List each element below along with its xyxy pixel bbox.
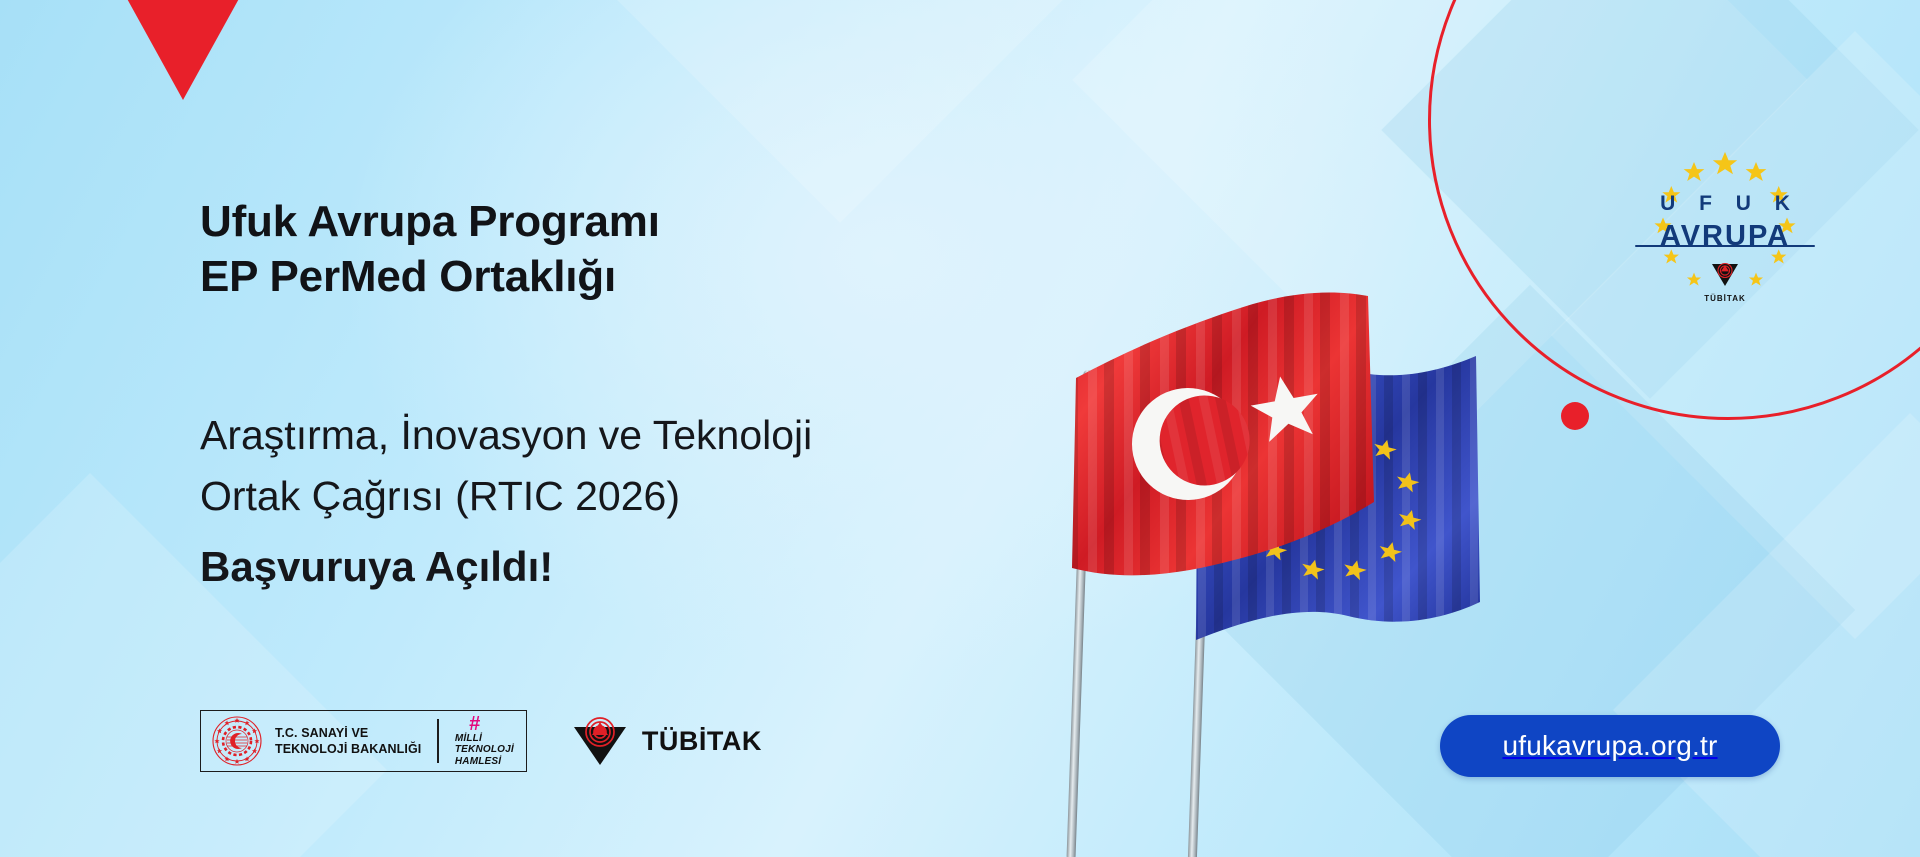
subtitle-line-2: Ortak Çağrısı (RTIC 2026)	[200, 466, 812, 527]
ministry-logo-label-line-2: TEKNOLOJİ BAKANLIĞI	[275, 741, 421, 758]
page-title: Ufuk Avrupa Programı EP PerMed Ortaklığı	[200, 195, 660, 304]
mth-line-1: MİLLİ	[455, 733, 514, 744]
campaign-banner: Ufuk Avrupa Programı EP PerMed Ortaklığı…	[0, 0, 1920, 857]
website-url-button[interactable]: ufukavrupa.org.tr	[1440, 715, 1780, 777]
ministry-logo-label-line-1: T.C. SANAYİ VE	[275, 725, 421, 742]
subtitle-line-1: Araştırma, İnovasyon ve Teknoloji	[200, 405, 812, 466]
headline-line-2: EP PerMed Ortaklığı	[200, 250, 660, 305]
turkey-flag	[1068, 292, 1378, 592]
ufuk-avrupa-logo-line-1: U F U K	[1625, 192, 1825, 216]
ufuk-avrupa-logo: U F U K AVRUPA TÜBİTAK	[1625, 140, 1825, 320]
ufuk-avrupa-logo-rule	[1635, 245, 1815, 247]
flags-illustration	[1020, 290, 1500, 857]
national-technology-move-label: MİLLİ TEKNOLOJİ HAMLESİ	[455, 733, 514, 767]
headline-line-1: Ufuk Avrupa Programı	[200, 195, 660, 250]
background-facet	[557, 0, 1123, 223]
tubitak-mark-icon	[1710, 262, 1740, 288]
ufuk-avrupa-logo-tubitak: TÜBİTAK	[1625, 262, 1825, 303]
subtitle-call-to-action: Başvuruya Açıldı!	[200, 536, 812, 598]
ufuk-avrupa-logo-tubitak-label: TÜBİTAK	[1625, 294, 1825, 303]
subtitle: Araştırma, İnovasyon ve Teknoloji Ortak …	[200, 405, 812, 599]
background-facet	[1613, 413, 1920, 857]
hashtag-icon: #	[469, 715, 480, 733]
ufuk-avrupa-logo-line-2: AVRUPA	[1625, 220, 1825, 253]
mth-line-2: TEKNOLOJİ	[455, 744, 514, 755]
logo-divider	[437, 719, 439, 763]
tubitak-logo-label: TÜBİTAK	[642, 726, 762, 757]
website-url-label: ufukavrupa.org.tr	[1502, 730, 1717, 762]
tubitak-logo: TÜBİTAK	[571, 715, 762, 767]
tubitak-mark-icon	[571, 715, 629, 767]
ministry-emblem-icon	[211, 715, 263, 767]
ministry-logo-box: T.C. SANAYİ VE TEKNOLOJİ BAKANLIĞI # MİL…	[200, 710, 527, 772]
mth-line-3: HAMLESİ	[455, 756, 514, 767]
red-dot-decoration	[1561, 402, 1589, 430]
institution-logos: T.C. SANAYİ VE TEKNOLOJİ BAKANLIĞI # MİL…	[200, 710, 762, 772]
ministry-logo-label: T.C. SANAYİ VE TEKNOLOJİ BAKANLIĞI	[275, 725, 421, 758]
red-triangle-decoration	[125, 0, 241, 100]
national-technology-move-logo: # MİLLİ TEKNOLOJİ HAMLESİ	[455, 715, 514, 767]
